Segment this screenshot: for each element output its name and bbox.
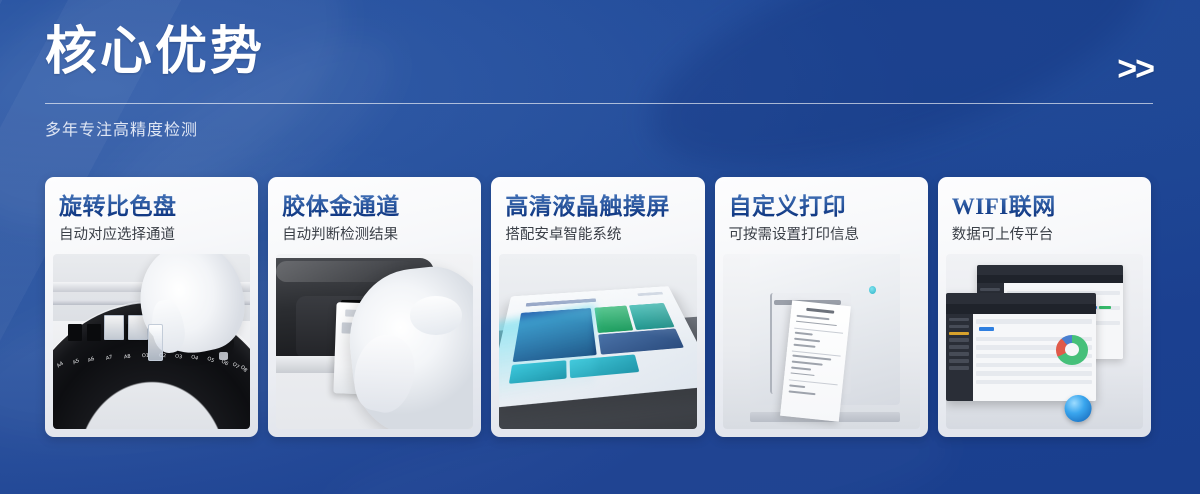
feature-card[interactable]: WIFI联网 数据可上传平台 (938, 177, 1151, 437)
disc-label: O4 (190, 354, 199, 362)
feature-card[interactable]: 胶体金通道 自动判断检测结果 (268, 177, 481, 437)
cuvette (104, 315, 124, 340)
feature-card-text: 胶体金通道 自动判断检测结果 (268, 177, 481, 246)
colloidal-gold-strip-insert-photo (276, 254, 473, 429)
feature-card-subtitle: 数据可上传平台 (952, 225, 1151, 246)
platform-sidebar (946, 314, 973, 401)
feature-card-text: 旋转比色盘 自动对应选择通道 (45, 177, 258, 246)
feature-card[interactable]: 自定义打印 可按需设置打印信息 (715, 177, 928, 437)
sidebar-item (949, 318, 969, 321)
feature-card-text: WIFI联网 数据可上传平台 (938, 177, 1151, 246)
feature-card-subtitle: 搭配安卓智能系统 (505, 225, 704, 246)
feature-card-subtitle: 可按需设置打印信息 (729, 225, 928, 246)
disc-label: O5 (206, 356, 215, 364)
feature-card-title: 自定义打印 (729, 193, 928, 221)
sidebar-item-active (949, 332, 969, 335)
sidebar-item (949, 366, 969, 369)
disc-label: A6 (88, 356, 96, 364)
rotating-colorimetric-disc-photo: A4 A5 A6 A7 A8 O1 O2 O3 O4 O5 O6 O7 O8 (53, 254, 250, 429)
page-title: 核心优势 (45, 22, 1155, 84)
banner-root: 核心优势 >> 多年专注高精度检测 旋转比色盘 自动对应选择通道 (0, 0, 1200, 494)
report-line (793, 343, 816, 347)
page-subtitle: 多年专注高精度检测 (45, 120, 198, 142)
thermal-printer-receipt-photo (723, 254, 920, 429)
sidebar-item (980, 288, 999, 291)
printed-report (780, 300, 851, 421)
report-line (796, 315, 829, 320)
gloved-knuckle (410, 296, 461, 335)
feature-card-text: 高清液晶触摸屏 搭配安卓智能系统 (491, 177, 704, 246)
disc-label: O8 (239, 364, 248, 373)
report-line (790, 372, 814, 376)
report-line (788, 390, 815, 395)
sidebar-item (949, 325, 969, 328)
report-line (795, 320, 836, 326)
held-cuvette (148, 324, 164, 361)
report-line (791, 366, 811, 370)
disc-label: A8 (124, 353, 131, 360)
browser-toolbar (977, 275, 1123, 284)
section-header: 核心优势 >> (45, 22, 1155, 84)
wifi-cloud-platform-illustration (946, 254, 1143, 429)
feature-card[interactable]: 旋转比色盘 自动对应选择通道 (45, 177, 258, 437)
report-separator (788, 379, 838, 385)
report-line (792, 355, 831, 361)
report-title-line (806, 308, 833, 314)
feature-card-subtitle: 自动判断检测结果 (282, 225, 481, 246)
feature-card[interactable]: 高清液晶触摸屏 搭配安卓智能系统 (491, 177, 704, 437)
disc-label: A5 (72, 358, 81, 366)
wifi-icon (1017, 314, 1139, 423)
wifi-dot (1064, 395, 1091, 422)
feature-card-title: WIFI联网 (952, 193, 1151, 221)
lcd-touchscreen-photo (499, 254, 696, 429)
browser-titlebar (977, 265, 1123, 275)
feature-card-title: 胶体金通道 (282, 193, 481, 221)
sidebar-item (949, 338, 969, 341)
sidebar-item (949, 352, 969, 355)
feature-card-subtitle: 自动对应选择通道 (59, 225, 258, 246)
report-line (789, 385, 806, 389)
sidebar-item (949, 345, 969, 348)
disc-slot (68, 324, 82, 341)
header-divider (45, 103, 1153, 104)
disc-slot (87, 324, 101, 341)
feature-card-text: 自定义打印 可按需设置打印信息 (715, 177, 928, 246)
primary-button (979, 327, 994, 330)
report-line (794, 332, 812, 336)
feature-card-list: 旋转比色盘 自动对应选择通道 (45, 177, 1151, 437)
disc-label: A4 (56, 361, 65, 370)
report-line (791, 361, 822, 366)
sidebar-item (949, 359, 969, 362)
disc-label: A7 (106, 354, 114, 362)
feature-card-title: 高清液晶触摸屏 (505, 193, 704, 221)
disc-label: O3 (175, 353, 183, 360)
report-line (794, 338, 820, 343)
more-chevron-icon[interactable]: >> (1117, 52, 1153, 86)
feature-card-title: 旋转比色盘 (59, 193, 258, 221)
